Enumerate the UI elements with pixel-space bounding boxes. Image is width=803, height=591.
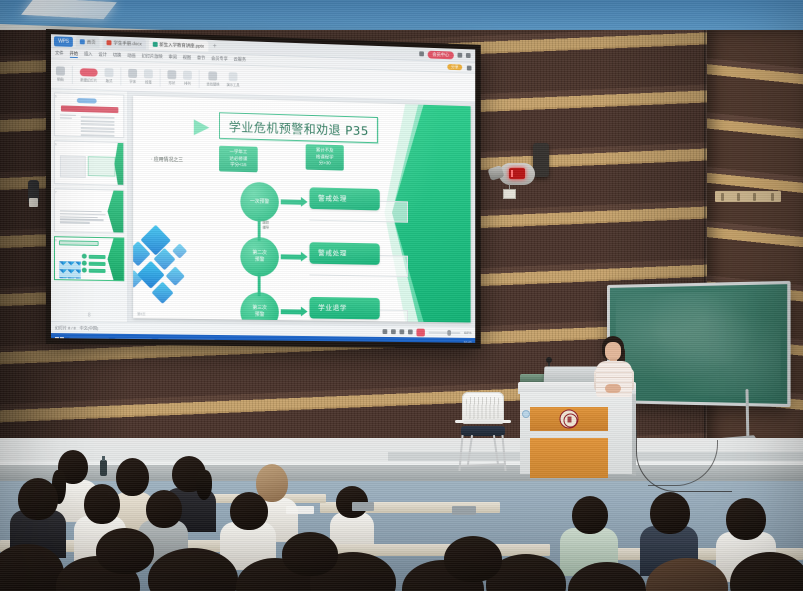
student-head bbox=[444, 536, 502, 582]
clock-time: 10:42 bbox=[456, 342, 472, 343]
ribbon-group-label: 形状 bbox=[169, 80, 176, 85]
student-head bbox=[96, 528, 154, 574]
ribbon-tab-home[interactable]: 开始 bbox=[69, 50, 78, 57]
doc-icon bbox=[107, 40, 112, 45]
audience-area bbox=[0, 436, 803, 591]
ribbon-tab-cloud[interactable]: 云服务 bbox=[234, 57, 246, 63]
ribbon-group-label: 字体 bbox=[129, 79, 136, 84]
thumb-chevron bbox=[108, 238, 124, 280]
home-icon bbox=[80, 39, 85, 44]
ribbon-separator bbox=[72, 65, 73, 83]
university-crest-icon bbox=[560, 410, 579, 429]
thumb-badge bbox=[77, 98, 97, 104]
ribbon-right-controls: 分享 bbox=[447, 64, 471, 71]
slide-connector-0 bbox=[258, 218, 261, 242]
thumbnail-number: 6 bbox=[55, 142, 57, 146]
presenter-hands bbox=[605, 384, 621, 393]
thumb-lines bbox=[81, 116, 115, 136]
slide-sorter-icon[interactable] bbox=[391, 329, 396, 334]
status-right-controls: 68% bbox=[383, 328, 472, 337]
projection-screen-frame: WPS 首页 学生手册.docx 新生入学教育讲座.pptx + 会员中心 bbox=[46, 29, 481, 349]
student-hair bbox=[196, 470, 212, 500]
slide-node-2: 第三次 预警 bbox=[240, 292, 279, 323]
student-head bbox=[282, 532, 338, 576]
new-slide-icon bbox=[80, 68, 98, 77]
ribbon-tab-design[interactable]: 设计 bbox=[98, 52, 106, 58]
ribbon-group-label: 段落 bbox=[145, 79, 152, 84]
slide-connector-1 bbox=[258, 273, 261, 297]
slide-arrow-1 bbox=[281, 254, 302, 259]
word-icon bbox=[73, 339, 78, 343]
ribbon-tab-section[interactable]: 章节 bbox=[197, 55, 205, 61]
reading-view-icon[interactable] bbox=[400, 329, 405, 334]
normal-view-icon[interactable] bbox=[383, 329, 388, 334]
ribbon-tab-review[interactable]: 审阅 bbox=[168, 54, 176, 60]
security-camera bbox=[489, 163, 535, 187]
new-tab-button[interactable]: + bbox=[211, 43, 219, 50]
ribbon-group-find[interactable]: 查找替换 bbox=[206, 71, 219, 86]
present-icon bbox=[229, 72, 238, 81]
paste-icon bbox=[56, 66, 65, 75]
app-tab-0[interactable]: 首页 bbox=[76, 36, 100, 48]
ribbon-tab-animation[interactable]: 动画 bbox=[127, 53, 135, 59]
slide-title: 学业危机预警和劝退 P35 bbox=[219, 112, 378, 143]
slide-side-note: 跟踪 辅导 bbox=[263, 220, 270, 230]
student-laptop bbox=[352, 502, 374, 511]
water-bottle bbox=[100, 460, 107, 476]
taskbar-item-label: 学生手册.docx bbox=[80, 338, 105, 342]
ribbon-group-layout[interactable]: 版式 bbox=[105, 68, 114, 83]
slide-thumbnail-6[interactable]: 6 bbox=[54, 140, 124, 186]
thumb-titlebar bbox=[61, 105, 118, 113]
notes-icon[interactable] bbox=[408, 329, 413, 334]
slide-decor-diamonds bbox=[133, 225, 221, 312]
taskbar-clock[interactable]: 10:42 2024/10/21 bbox=[456, 342, 472, 343]
slide-footer: 第8页 bbox=[137, 311, 146, 316]
chair-arm-right bbox=[502, 420, 511, 423]
ribbon-group-paragraph[interactable]: 段落 bbox=[144, 69, 153, 84]
app-tab-label: 首页 bbox=[87, 39, 96, 45]
ribbon-group-new-slide[interactable]: 新建幻灯片 bbox=[80, 68, 98, 83]
student-head bbox=[726, 498, 766, 540]
app-tab-2[interactable]: 新生入学教育讲座.pptx bbox=[149, 39, 208, 52]
slide-tag-0: 一学年工 达必修课 学分<15 bbox=[219, 146, 258, 173]
student-laptop bbox=[452, 506, 476, 515]
slide-node-0: 一次预警 bbox=[240, 182, 279, 222]
podium-emblem-plate bbox=[530, 407, 608, 431]
ribbon-group-label: 粘贴 bbox=[57, 76, 64, 81]
student-head bbox=[18, 478, 58, 520]
student-head bbox=[230, 492, 268, 530]
system-tray: 10:42 2024/10/21 bbox=[422, 342, 471, 343]
slide-process-0: 警戒处理 bbox=[309, 187, 379, 210]
thumb-green-box bbox=[88, 156, 116, 177]
lecture-hall-scene: WPS 首页 学生手册.docx 新生入学教育讲座.pptx + 会员中心 bbox=[0, 0, 803, 591]
slide-tag-1: 累计不及 格课程学 分>30 bbox=[306, 144, 344, 170]
ppt-icon bbox=[153, 42, 158, 47]
zoom-slider[interactable] bbox=[429, 331, 461, 333]
student-head bbox=[146, 490, 182, 528]
language-indicator[interactable]: 中文(中国) bbox=[80, 325, 98, 331]
wall-speaker-left bbox=[28, 180, 39, 204]
wall-hooks bbox=[715, 191, 781, 202]
thumb-text bbox=[60, 114, 76, 119]
ribbon-group-label: 版式 bbox=[106, 78, 113, 83]
grid-icon[interactable] bbox=[419, 51, 424, 56]
ribbon-tab-insert[interactable]: 插入 bbox=[84, 51, 93, 57]
ribbon-tab-view[interactable]: 视图 bbox=[183, 55, 191, 61]
ribbon-tab-slideshow[interactable]: 幻灯片放映 bbox=[142, 53, 163, 60]
slide-thumbnail-8[interactable]: 8 bbox=[54, 236, 124, 281]
slide-title-marker bbox=[194, 119, 210, 135]
thumb-chevron bbox=[108, 190, 124, 232]
share-button[interactable]: 分享 bbox=[447, 64, 462, 70]
ribbon-group-font[interactable]: 字体 bbox=[128, 69, 137, 84]
student-head bbox=[650, 492, 690, 534]
slide-canvas-area[interactable]: 学业危机预警和劝退 P35 · 应用情况之三 一学年工 达必修课 学分<15 累… bbox=[128, 92, 475, 327]
wall-speaker-right bbox=[533, 143, 549, 177]
minimize-icon[interactable] bbox=[458, 53, 463, 58]
chair-backrest bbox=[462, 392, 504, 424]
taskbar-item-2[interactable]: 学业危机预警和劝退.pptx bbox=[157, 338, 215, 343]
ribbon-tab-transition[interactable]: 切换 bbox=[113, 52, 121, 58]
ribbon-group-shape[interactable]: 形状 bbox=[167, 70, 176, 85]
ribbon-tab-member[interactable]: 会员专享 bbox=[211, 56, 228, 62]
taskbar-item-0[interactable]: 学生手册.docx bbox=[69, 337, 109, 343]
account-pill[interactable]: 会员中心 bbox=[428, 50, 454, 59]
thumb-text bbox=[60, 210, 106, 223]
thumbnail-number: 5 bbox=[55, 94, 57, 98]
shape-icon bbox=[167, 70, 176, 79]
slide-thumbnail-7[interactable]: 7 bbox=[54, 188, 124, 233]
slide-indicator: 幻灯片 8 / 8 bbox=[55, 325, 76, 331]
ceiling-light-fixture bbox=[21, 0, 117, 19]
taskbar-item-label: 新生入学教育 bbox=[125, 339, 149, 343]
presenter bbox=[592, 336, 644, 396]
taskbar-item-label: 学业危机预警和劝退.pptx bbox=[168, 339, 212, 342]
slide-thumbnail-5[interactable]: 5 bbox=[54, 92, 124, 138]
zoom-level: 68% bbox=[464, 330, 471, 335]
chair-seat bbox=[461, 426, 505, 436]
tabbar-right-controls: 会员中心 bbox=[419, 50, 472, 60]
ppt-icon bbox=[161, 340, 166, 343]
student-head bbox=[572, 496, 608, 534]
app-tab-1[interactable]: 学生手册.docx bbox=[103, 37, 146, 49]
find-icon bbox=[209, 71, 218, 80]
podium-control-button[interactable] bbox=[522, 410, 530, 418]
ribbon-group-label: 演示工具 bbox=[226, 82, 239, 87]
arrange-icon bbox=[183, 71, 192, 80]
thumb-diamonds bbox=[59, 261, 81, 278]
slide-process-2: 学业退学 bbox=[309, 297, 379, 319]
student-head bbox=[84, 484, 120, 524]
thumb-title bbox=[59, 240, 99, 246]
ppt-icon bbox=[118, 339, 123, 343]
zoom-slider-knob[interactable] bbox=[447, 329, 451, 335]
ribbon-group-label: 新建幻灯片 bbox=[80, 77, 97, 83]
paper-sheet bbox=[286, 506, 314, 514]
slide-node-1: 第二次 预警 bbox=[240, 237, 279, 277]
ribbon-tab-file[interactable]: 文件 bbox=[55, 50, 64, 56]
chair-arm-left bbox=[455, 420, 464, 423]
slide-arrow-0 bbox=[281, 199, 302, 204]
thumbnail-number: 8 bbox=[55, 238, 57, 242]
cloud-icon[interactable] bbox=[467, 65, 472, 70]
ribbon-group-paste[interactable]: 粘贴 bbox=[56, 66, 65, 81]
ribbon-separator bbox=[120, 67, 121, 85]
taskbar-item-1[interactable]: 新生入学教育 bbox=[114, 338, 152, 343]
ribbon-group-present[interactable]: 演示工具 bbox=[226, 72, 239, 87]
close-icon[interactable] bbox=[466, 53, 471, 58]
ribbon-group-label: 排列 bbox=[184, 81, 191, 86]
paragraph-icon bbox=[144, 69, 153, 78]
play-slideshow-button[interactable] bbox=[416, 328, 424, 336]
thumb-flow bbox=[82, 254, 106, 273]
camera-tag bbox=[503, 189, 516, 199]
slide-process-1: 警戒处理 bbox=[309, 242, 379, 265]
start-button-icon[interactable] bbox=[55, 337, 64, 343]
ribbon-group-label: 查找替换 bbox=[206, 81, 219, 86]
student-head bbox=[116, 458, 149, 496]
slide-bullet: · 应用情况之三 bbox=[151, 156, 183, 164]
ribbon-group-arrange[interactable]: 排列 bbox=[183, 71, 192, 86]
thumb-chevron bbox=[114, 143, 123, 185]
thumbnail-footer-count: 8 bbox=[54, 312, 124, 319]
projected-display[interactable]: WPS 首页 学生手册.docx 新生入学教育讲座.pptx + 会员中心 bbox=[51, 34, 475, 343]
ribbon-separator bbox=[199, 70, 200, 88]
thumbnail-number: 7 bbox=[55, 190, 57, 194]
thumb-image bbox=[60, 155, 86, 178]
slide-thumbnail-panel[interactable]: 5 6 bbox=[51, 89, 128, 322]
app-tab-label: 学生手册.docx bbox=[113, 40, 141, 47]
slide-arrow-2 bbox=[281, 309, 302, 314]
current-slide[interactable]: 学业危机预警和劝退 P35 · 应用情况之三 一学年工 达必修课 学分<15 累… bbox=[133, 96, 470, 323]
font-icon bbox=[128, 69, 137, 78]
app-body: 5 6 bbox=[51, 89, 475, 326]
app-tab-label: 新生入学教育讲座.pptx bbox=[159, 42, 204, 50]
ribbon-separator bbox=[160, 68, 161, 86]
wps-logo: WPS bbox=[54, 36, 73, 47]
camera-led-indicator bbox=[509, 168, 525, 179]
layout-icon bbox=[105, 68, 114, 77]
